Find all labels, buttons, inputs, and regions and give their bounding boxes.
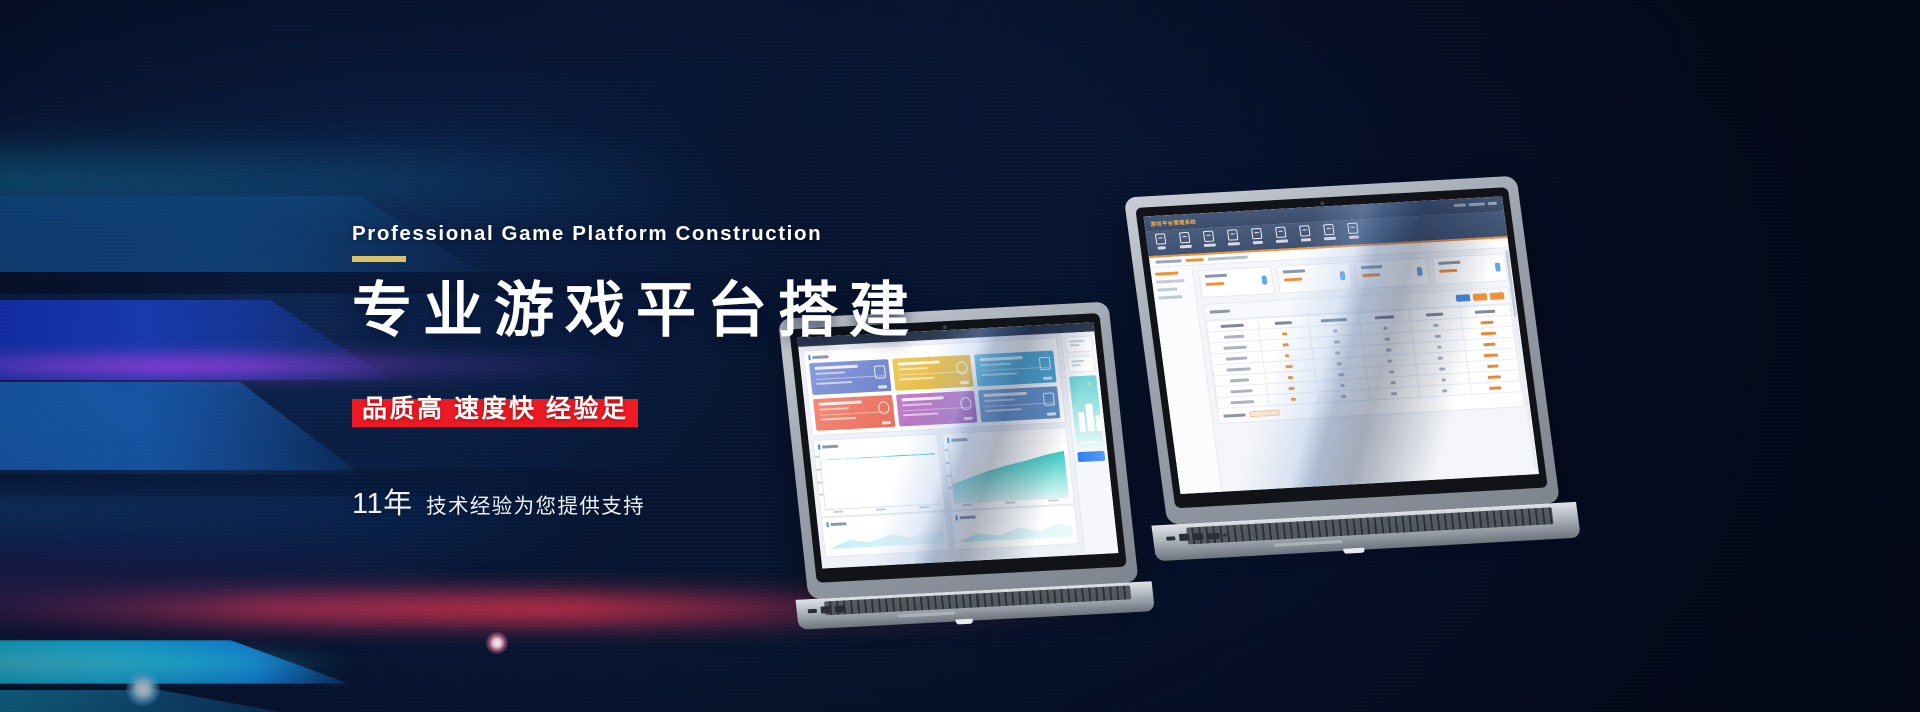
hero-copy: Professional Game Platform Construction … (352, 222, 992, 522)
home-icon (1155, 233, 1166, 244)
toolbar-item[interactable] (1176, 232, 1194, 248)
table-export-button[interactable] (1473, 293, 1488, 301)
base-lip (1343, 548, 1365, 554)
report-icon (1227, 229, 1238, 240)
breadcrumb-current[interactable] (1185, 258, 1203, 262)
list-icon (1299, 225, 1310, 236)
chart-icon (1251, 228, 1262, 239)
toolbar-item[interactable] (1224, 229, 1242, 245)
webcam-icon (1320, 201, 1325, 205)
admin-content (1192, 248, 1539, 492)
front-laptop-screen: 游戏平台管理系统 (1143, 196, 1539, 494)
settings-icon (1323, 224, 1334, 235)
admin-dashboard: 游戏平台管理系统 (1143, 196, 1539, 494)
admin-header-title: 游戏平台管理系统 (1150, 217, 1197, 227)
game-icon (1203, 231, 1214, 242)
stat-card[interactable] (1198, 266, 1275, 298)
info-icon (1417, 267, 1423, 276)
toolbar-item[interactable] (1344, 222, 1362, 238)
stat-card[interactable] (1276, 262, 1353, 294)
toolbar-item[interactable] (1272, 226, 1290, 242)
user-icon (1179, 232, 1190, 243)
sidebar-item[interactable] (1156, 279, 1184, 284)
money-icon (1043, 392, 1055, 406)
gold-underline (352, 256, 406, 262)
breadcrumb-root[interactable] (1155, 259, 1181, 263)
rail-card (1065, 335, 1094, 352)
front-laptop-bezel: 游戏平台管理系统 (1135, 187, 1548, 508)
front-laptop-lid: 游戏平台管理系统 (1124, 176, 1560, 525)
toolbar-item[interactable] (1296, 225, 1314, 241)
page-title: 专业游戏平台搭建 (352, 279, 992, 343)
tagline: 11年 技术经验为您提供支持 (352, 480, 992, 522)
admin-header-account[interactable] (1454, 202, 1497, 207)
sparkline (956, 518, 1073, 542)
sparkline (827, 525, 944, 549)
hero-banner: 游戏平台管理系统 (0, 0, 1920, 712)
stat-card[interactable] (1354, 258, 1431, 290)
stat-card[interactable] (1432, 253, 1509, 285)
pagination-control[interactable] (1249, 410, 1280, 418)
toolbar-item[interactable] (1248, 228, 1266, 244)
base-lip (955, 619, 973, 625)
years-count: 11年 (352, 488, 413, 520)
table-title (1210, 310, 1230, 314)
trackpad (1274, 539, 1342, 546)
info-icon (1339, 271, 1345, 280)
sidebar-item[interactable] (1155, 271, 1179, 275)
eyebrow-text: Professional Game Platform Construction (352, 222, 992, 246)
table-search-button[interactable] (1456, 294, 1471, 302)
toolbar-item[interactable] (1152, 233, 1170, 249)
rail-cta-button[interactable] (1077, 451, 1105, 462)
feature-badge: 品质高 速度快 经验足 (352, 387, 638, 428)
badge-label: 品质高 速度快 经验足 (362, 395, 628, 423)
data-table (1206, 304, 1522, 409)
tagline-text: 技术经验为您提供支持 (426, 495, 645, 518)
toolbar-item[interactable] (1200, 230, 1218, 246)
sidebar-item[interactable] (1158, 295, 1182, 299)
sidebar-item[interactable] (1157, 288, 1177, 292)
rail-card (1067, 355, 1096, 372)
table-footer-label (1223, 413, 1245, 417)
info-icon (1495, 262, 1501, 271)
wallet-icon (1275, 227, 1286, 238)
info-icon (1261, 276, 1267, 285)
data-table-panel (1203, 287, 1525, 424)
promo-illustration (1069, 375, 1104, 448)
front-laptop: 游戏平台管理系统 (1124, 175, 1581, 561)
star-icon (1087, 381, 1093, 386)
network-icon (1039, 357, 1051, 371)
table-add-button[interactable] (1490, 292, 1505, 300)
breadcrumb-hint (1207, 256, 1247, 261)
trackpad (897, 612, 954, 618)
logout-icon (1347, 223, 1358, 234)
toolbar-item[interactable] (1320, 224, 1338, 240)
